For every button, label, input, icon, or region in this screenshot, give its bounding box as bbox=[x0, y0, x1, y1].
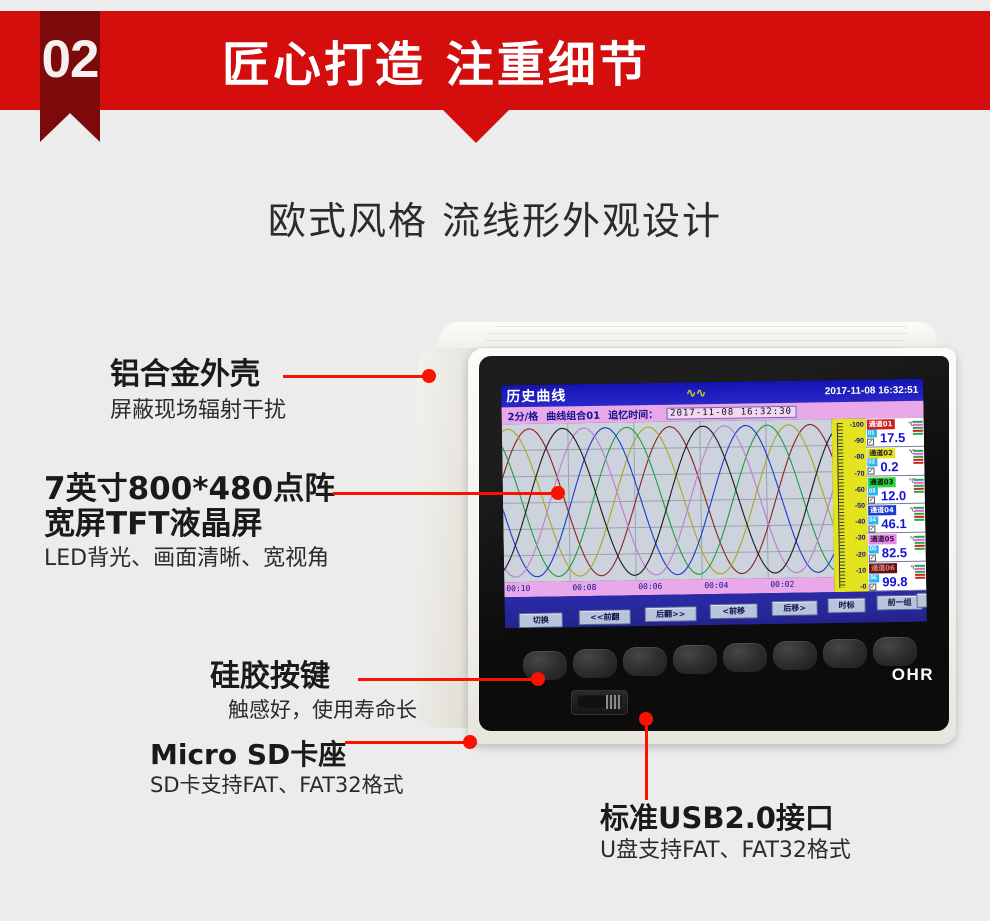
y-tick-label: -30 bbox=[855, 535, 865, 542]
hardware-key-4[interactable] bbox=[673, 645, 717, 674]
leader-dot-aluminum-case bbox=[422, 369, 436, 383]
channel-row[interactable]: 通道05℃05✓82.5 bbox=[867, 533, 925, 563]
hardware-key-5[interactable] bbox=[723, 643, 767, 672]
annotation-lcd-screen: 7英寸800*480点阵 宽屏TFT液晶屏 LED背光、画面清晰、宽视角 bbox=[44, 472, 335, 573]
leader-line-lcd-screen bbox=[333, 492, 558, 495]
channel-number-badge: 01 bbox=[867, 430, 877, 438]
channel-readout-panel: 通道01℃01✓17.5通道02℃02✓0.2通道03℃03✓12.0通道04℃… bbox=[866, 418, 927, 592]
channel-bargraph-icon bbox=[913, 450, 923, 470]
usb-port-contacts bbox=[606, 695, 620, 709]
x-tick-label: 00:06 bbox=[638, 582, 662, 591]
trend-curves-svg bbox=[502, 419, 834, 582]
lcd-screen-title: 历史曲线 bbox=[506, 385, 566, 406]
silicone-keypad[interactable] bbox=[523, 637, 923, 673]
softkey-0[interactable]: 切换 bbox=[519, 612, 563, 628]
channel-enable-checkbox[interactable]: ✓ bbox=[867, 439, 874, 446]
annotation-title: 标准USB2.0接口 bbox=[600, 802, 851, 834]
leader-dot-lcd-screen bbox=[551, 486, 565, 500]
softkey-3[interactable]: <前移 bbox=[710, 603, 758, 619]
channel-value: 46.1 bbox=[881, 517, 907, 530]
annotation-title-line1: 7英寸800*480点阵 bbox=[44, 472, 335, 507]
hardware-key-1[interactable] bbox=[523, 651, 567, 680]
step-number-ribbon: 02 bbox=[40, 11, 100, 142]
channel-bargraph-icon bbox=[914, 478, 924, 498]
annotation-desc: LED背光、画面清晰、宽视角 bbox=[44, 546, 335, 572]
channel-enable-checkbox[interactable]: ✓ bbox=[869, 554, 876, 561]
hardware-key-3[interactable] bbox=[623, 647, 667, 676]
brand-logo: OHR bbox=[892, 665, 934, 685]
trend-plot-area[interactable] bbox=[502, 419, 834, 582]
annotation-desc: 屏蔽现场辐射干扰 bbox=[110, 398, 286, 424]
leader-line-silicone-keys bbox=[358, 678, 538, 681]
hardware-key-7[interactable] bbox=[823, 639, 867, 668]
x-tick-label: 00:10 bbox=[506, 584, 530, 593]
y-tick-label: -10 bbox=[856, 567, 866, 574]
lcd-group-label: 曲线组合01 bbox=[546, 407, 600, 423]
y-tick-label: -80 bbox=[854, 454, 864, 461]
x-tick-label: 00:04 bbox=[704, 581, 728, 590]
annotation-usb-port: 标准USB2.0接口 U盘支持FAT、FAT32格式 bbox=[600, 802, 851, 865]
channel-name-tag: 通道03 bbox=[868, 477, 896, 487]
annotation-title-line2: 宽屏TFT液晶屏 bbox=[44, 507, 335, 542]
x-tick-label: 00:02 bbox=[770, 580, 794, 589]
y-tick-label: -20 bbox=[856, 551, 866, 558]
hardware-key-6[interactable] bbox=[773, 641, 817, 670]
hardware-key-8[interactable] bbox=[873, 637, 917, 666]
channel-row[interactable]: 通道01℃01✓17.5 bbox=[866, 418, 924, 448]
channel-bargraph-icon bbox=[913, 421, 923, 441]
waveform-icon: ∿∿ bbox=[686, 385, 706, 401]
channel-enable-checkbox[interactable]: ✓ bbox=[869, 583, 876, 590]
channel-number-badge: 05 bbox=[869, 545, 879, 553]
page-subtitle: 欧式风格 流线形外观设计 bbox=[0, 190, 990, 245]
channel-row[interactable]: 通道06℃06✓99.8 bbox=[868, 562, 926, 592]
channel-value: 17.5 bbox=[880, 431, 906, 444]
leader-dot-silicone-keys bbox=[531, 672, 545, 686]
channel-bargraph-icon bbox=[915, 536, 925, 556]
paperless-recorder-device: 历史曲线 ∿∿ 2017-11-08 16:32:51 2分/格 曲线组合01 … bbox=[413, 322, 960, 752]
channel-number-badge: 02 bbox=[867, 459, 877, 467]
channel-enable-checkbox[interactable]: ✓ bbox=[868, 497, 875, 504]
hardware-key-2[interactable] bbox=[573, 649, 617, 678]
channel-row[interactable]: 通道03℃03✓12.0 bbox=[867, 475, 925, 505]
softkey-7[interactable]: 后一组 bbox=[916, 592, 926, 608]
lcd-recall-label: 追忆时间： bbox=[608, 406, 658, 422]
softkey-5[interactable]: 时标 bbox=[828, 598, 866, 614]
lcd-softkey-bar: 切换<<前翻后翻>><前移后移>时标前一组后一组 bbox=[504, 591, 926, 629]
annotation-micro-sd-slot: Micro SD卡座 SD卡支持FAT、FAT32格式 bbox=[150, 739, 404, 799]
leader-dot-micro-sd-slot bbox=[463, 735, 477, 749]
lcd-display[interactable]: 历史曲线 ∿∿ 2017-11-08 16:32:51 2分/格 曲线组合01 … bbox=[501, 379, 927, 629]
channel-name-tag: 通道05 bbox=[869, 534, 897, 544]
page-title: 匠心打造 注重细节 bbox=[222, 25, 650, 95]
y-tick-label: -100 bbox=[850, 422, 864, 429]
y-tick-label: -50 bbox=[855, 503, 865, 510]
leader-line-aluminum-case bbox=[283, 375, 428, 378]
y-tick-label: -90 bbox=[854, 438, 864, 445]
y-tick-label: -40 bbox=[855, 519, 865, 526]
x-tick-label: 00:08 bbox=[572, 583, 596, 592]
step-number: 02 bbox=[42, 33, 99, 86]
channel-name-tag: 通道02 bbox=[867, 448, 895, 458]
lcd-datetime: 2017-11-08 16:32:51 bbox=[825, 384, 919, 396]
channel-row[interactable]: 通道02℃02✓0.2 bbox=[866, 447, 924, 477]
annotation-aluminum-case: 铝合金外壳 屏蔽现场辐射干扰 bbox=[110, 358, 286, 424]
channel-value: 82.5 bbox=[882, 546, 908, 559]
channel-bargraph-icon bbox=[914, 507, 924, 527]
header-notch-arrow bbox=[443, 110, 509, 143]
annotation-silicone-keys: 硅胶按键 触感好，使用寿命长 bbox=[210, 660, 417, 723]
channel-name-tag: 通道06 bbox=[869, 563, 897, 573]
channel-name-tag: 通道04 bbox=[868, 506, 896, 516]
plot-y-scale: -0-10-20-30-40-50-60-70-80-90-100 bbox=[832, 419, 869, 593]
softkey-2[interactable]: 后翻>> bbox=[645, 606, 697, 622]
channel-value: 12.0 bbox=[881, 489, 907, 502]
lcd-recall-time-value: 2017-11-08 16:32:30 bbox=[666, 405, 796, 419]
channel-number-badge: 06 bbox=[869, 574, 879, 582]
annotation-desc: SD卡支持FAT、FAT32格式 bbox=[150, 773, 404, 798]
leader-line-usb-port bbox=[645, 718, 648, 800]
y-tick-label: -60 bbox=[855, 486, 865, 493]
leader-line-micro-sd-slot bbox=[345, 741, 470, 744]
channel-name-tag: 通道01 bbox=[867, 419, 895, 429]
softkey-1[interactable]: <<前翻 bbox=[579, 609, 631, 625]
y-ruler-ticks bbox=[837, 423, 849, 588]
lcd-interval-label: 2分/格 bbox=[507, 408, 538, 423]
y-tick-label: -0 bbox=[860, 584, 866, 591]
channel-value: 0.2 bbox=[880, 460, 898, 473]
channel-number-badge: 03 bbox=[868, 487, 878, 495]
channel-value: 99.8 bbox=[882, 575, 908, 588]
annotation-desc: U盘支持FAT、FAT32格式 bbox=[600, 838, 851, 864]
annotation-title: 铝合金外壳 bbox=[110, 358, 286, 392]
annotation-title: 硅胶按键 bbox=[210, 660, 417, 694]
annotation-desc: 触感好，使用寿命长 bbox=[228, 698, 417, 723]
y-tick-label: -70 bbox=[854, 470, 864, 477]
channel-enable-checkbox[interactable]: ✓ bbox=[867, 468, 874, 475]
leader-dot-usb-port bbox=[639, 712, 653, 726]
channel-row[interactable]: 通道04℃04✓46.1 bbox=[867, 504, 925, 534]
channel-enable-checkbox[interactable]: ✓ bbox=[868, 525, 875, 532]
channel-number-badge: 04 bbox=[868, 516, 878, 524]
softkey-4[interactable]: 后移> bbox=[772, 600, 818, 616]
channel-bargraph-icon bbox=[915, 565, 925, 585]
